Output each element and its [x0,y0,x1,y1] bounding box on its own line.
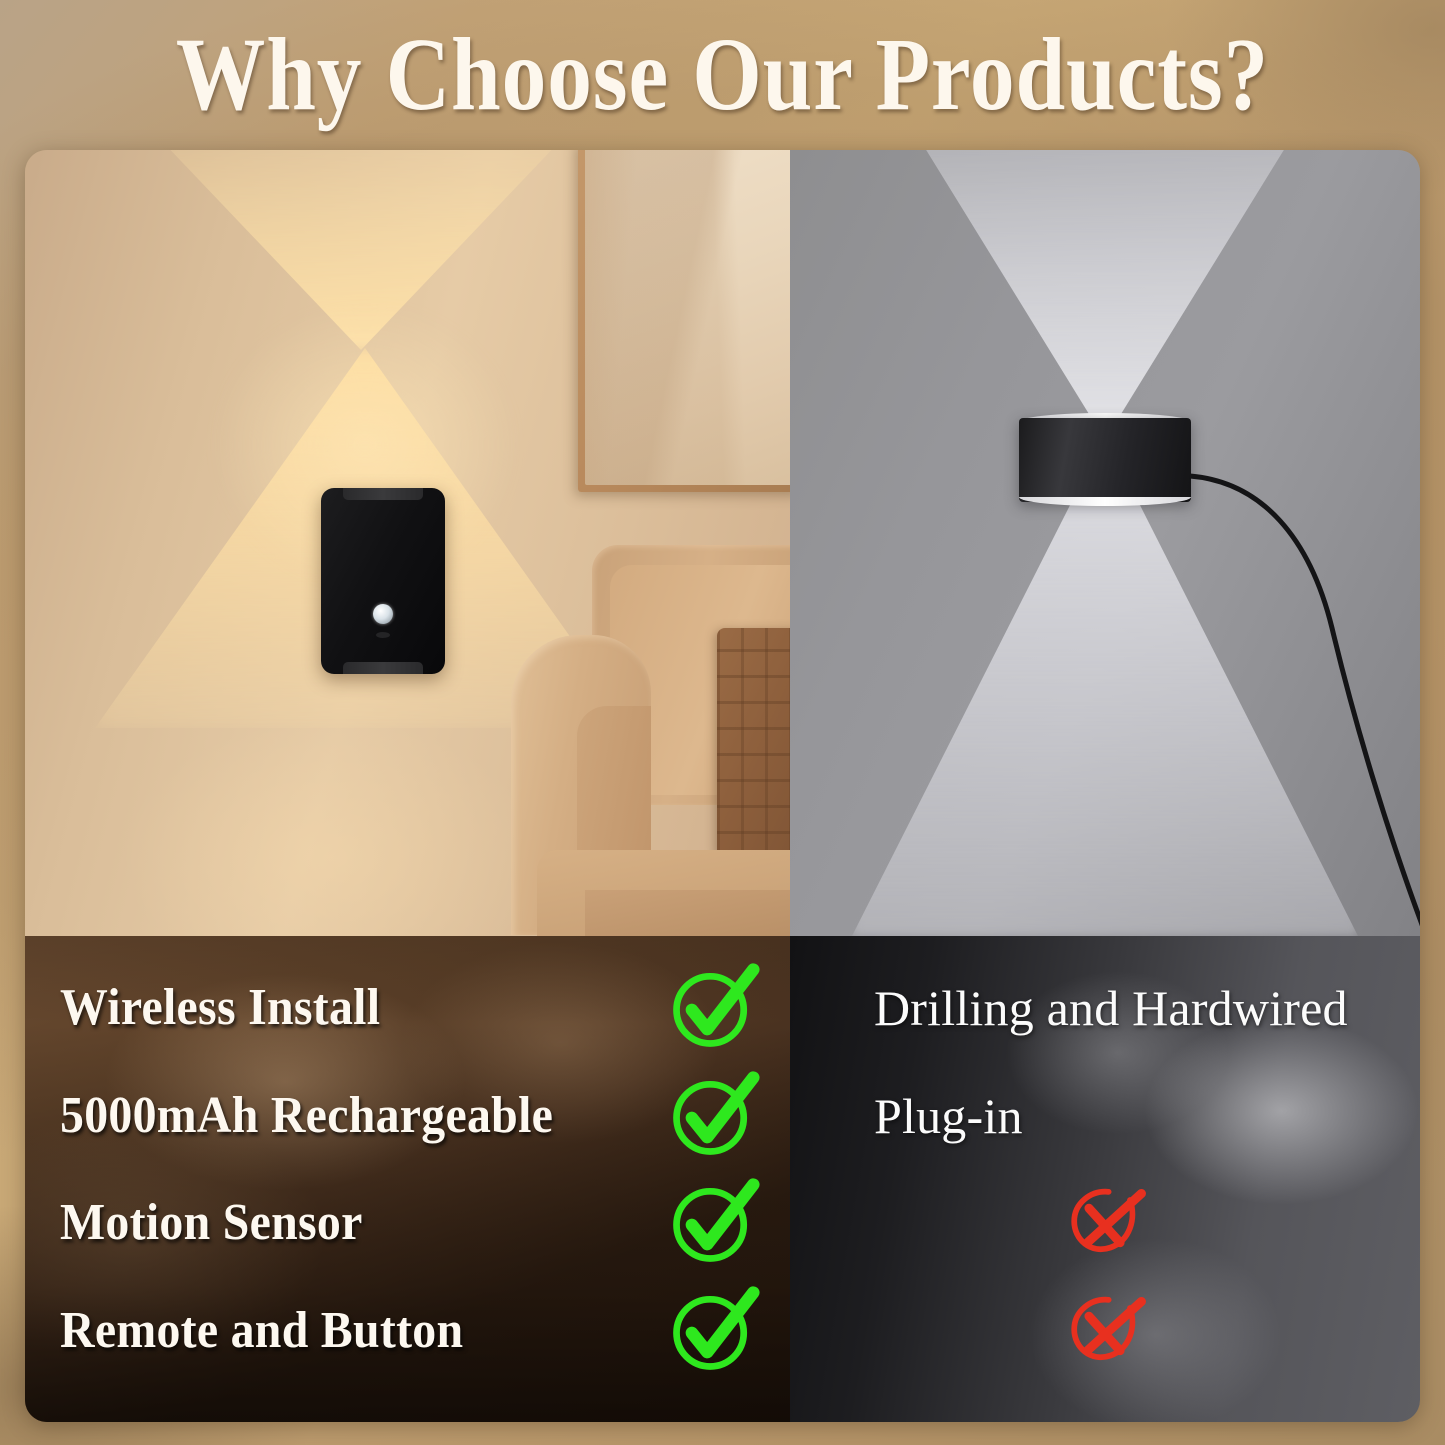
feature-label: Remote and Button [60,1302,463,1360]
list-item: Motion Sensor [25,1169,790,1276]
other-feature-list: Drilling and Hardwired Plug-in [790,936,1420,1422]
other-product-feature-strip: Drilling and Hardwired Plug-in [790,936,1420,1422]
feature-label: Plug-in [874,1088,1023,1144]
check-icon [665,1175,761,1271]
check-icon [665,1283,761,1379]
cross-icon [1066,1290,1148,1372]
art-canvas [585,150,790,485]
list-item [790,1169,1420,1276]
feature-label: Wireless Install [60,979,380,1037]
list-item: Plug-in [790,1062,1420,1169]
lamp-bottom-edge [1019,497,1191,506]
list-item: Remote and Button [25,1277,790,1384]
wall-lamp-device [1019,418,1191,502]
feature-label: Drilling and Hardwired [874,980,1348,1036]
wall-lamp-device [321,488,445,674]
motion-sensor-icon [373,604,393,624]
list-item: Wireless Install [25,954,790,1061]
sofa-base [585,890,790,936]
comparison-panel: Wireless Install 5000mAh Rechargeable [25,150,1420,1422]
infographic-canvas: Why Choose Our Products? [0,0,1445,1445]
list-item: 5000mAh Rechargeable [25,1062,790,1169]
list-item [790,1277,1420,1384]
woven-pillow [717,628,790,860]
our-product-feature-strip: Wireless Install 5000mAh Rechargeable [25,936,790,1422]
check-icon [665,960,761,1056]
list-item: Drilling and Hardwired [790,954,1420,1061]
lamp-top-notch [343,488,423,500]
our-product-column: Wireless Install 5000mAh Rechargeable [25,150,790,1422]
up-light-cone-icon [920,150,1290,440]
power-cord-icon [1170,468,1420,936]
check-icon [665,1068,761,1164]
feature-label: 5000mAh Rechargeable [60,1087,553,1145]
other-product-photo [790,150,1420,936]
our-product-photo [25,150,790,936]
framed-wall-art [578,150,790,492]
other-product-column: Drilling and Hardwired Plug-in [790,150,1420,1422]
lamp-bottom-notch [343,662,423,674]
our-feature-list: Wireless Install 5000mAh Rechargeable [25,936,790,1422]
cross-icon [1066,1182,1148,1264]
ir-receiver-icon [376,632,390,638]
page-title: Why Choose Our Products? [101,16,1344,134]
feature-label: Motion Sensor [60,1194,363,1252]
